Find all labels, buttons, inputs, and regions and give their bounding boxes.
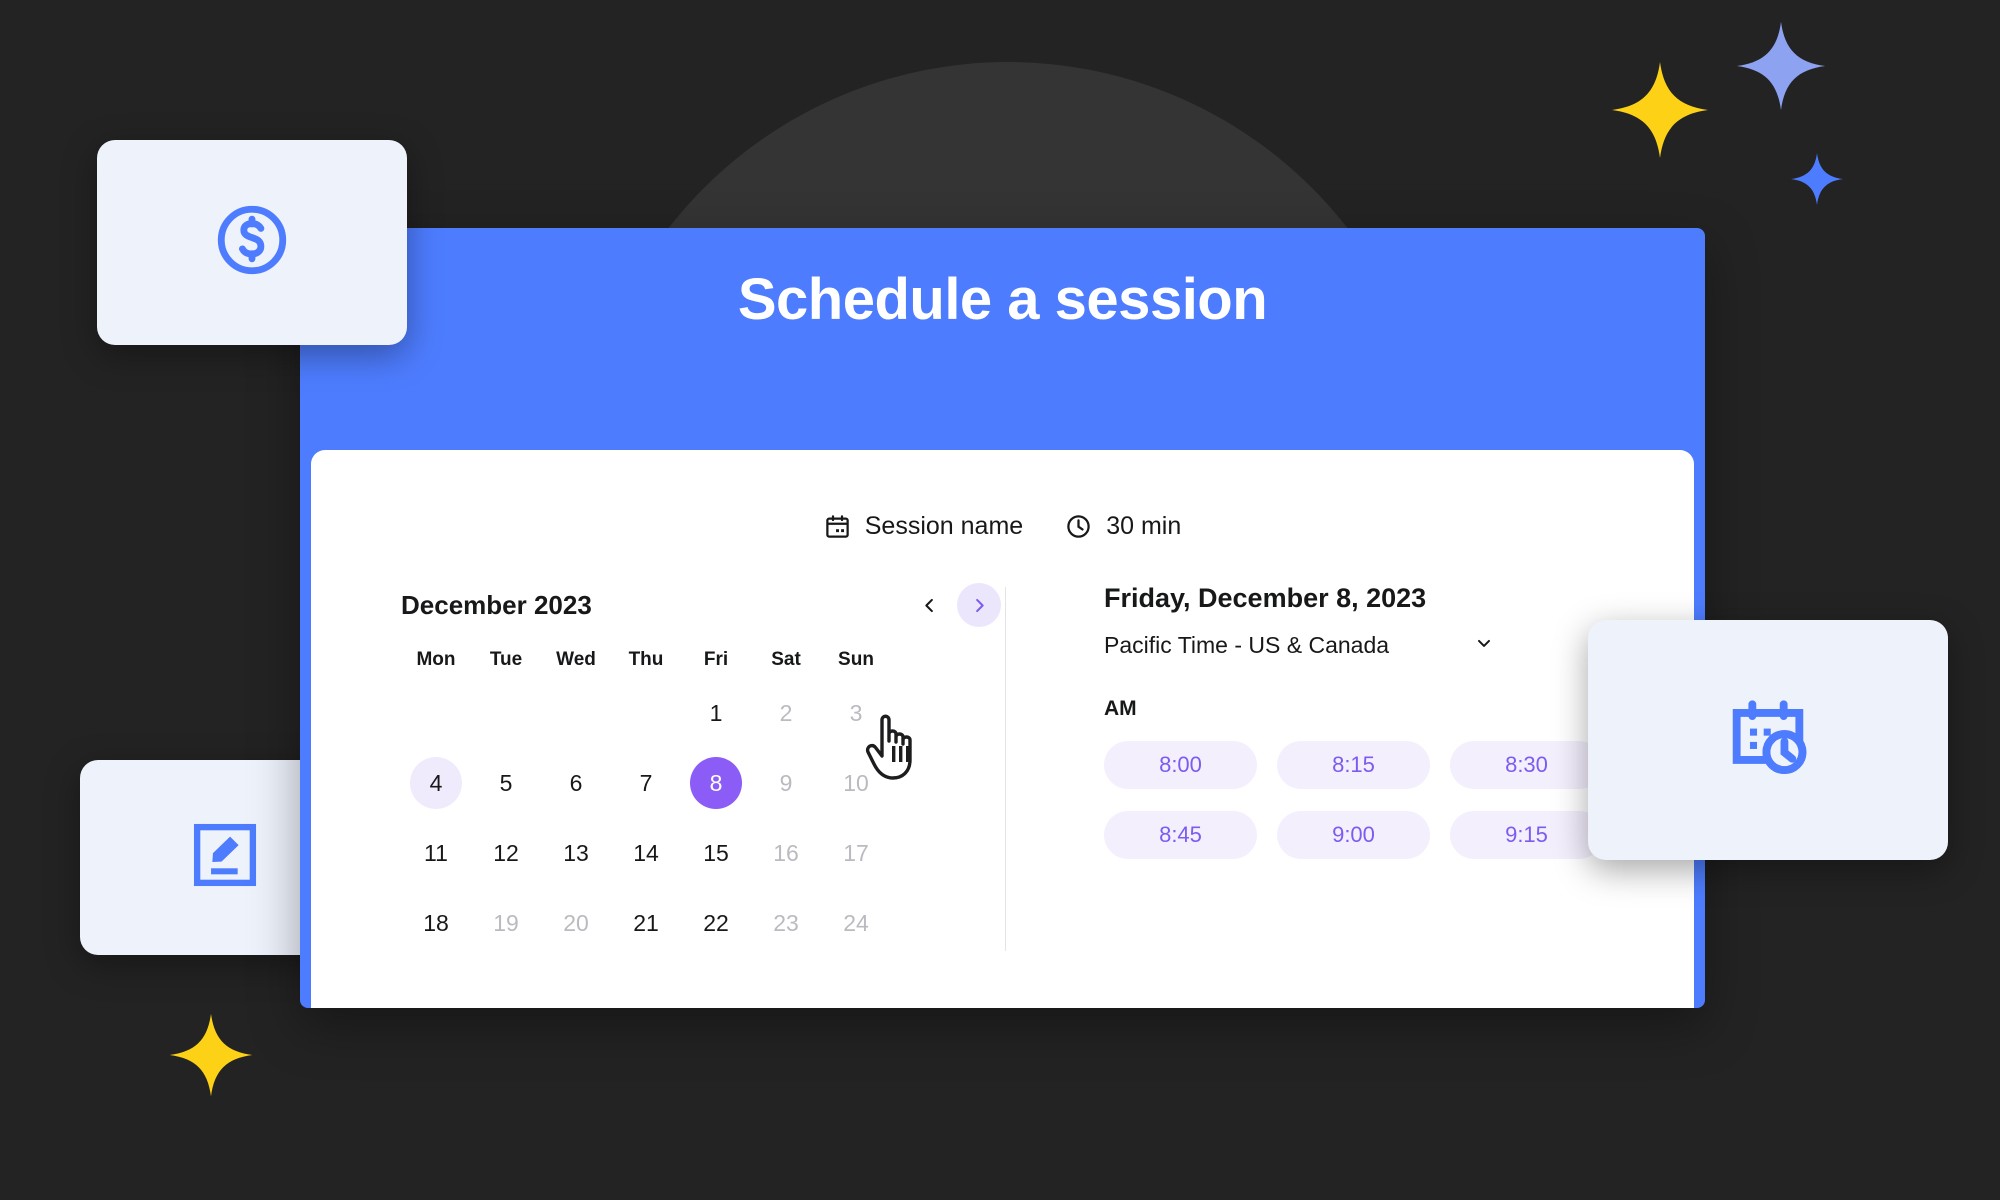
calendar-cell-empty xyxy=(611,685,681,741)
calendar-icon xyxy=(824,513,851,540)
chevron-down-icon xyxy=(1474,633,1494,658)
time-slot-8-15[interactable]: 8:15 xyxy=(1277,741,1430,789)
dow-thu: Thu xyxy=(611,649,681,671)
calendar-day-label: 2 xyxy=(760,687,812,739)
timezone-select[interactable]: Pacific Time - US & Canada xyxy=(1104,632,1494,659)
page-title: Schedule a session xyxy=(300,266,1705,333)
dow-sun: Sun xyxy=(821,649,891,671)
time-slot-8-45[interactable]: 8:45 xyxy=(1104,811,1257,859)
screenshot-stage: Schedule a session Session name xyxy=(0,0,2000,1200)
calendar-day-22[interactable]: 22 xyxy=(681,895,751,951)
calendar-day-23: 23 xyxy=(751,895,821,951)
scheduler-panel: Schedule a session Session name xyxy=(300,228,1705,1008)
calendar-day-label: 8 xyxy=(690,757,742,809)
dow-wed: Wed xyxy=(541,649,611,671)
edit-square-icon xyxy=(187,817,263,898)
calendar-header: December 2023 xyxy=(401,583,1001,627)
calendar-day-8[interactable]: 8 xyxy=(681,755,751,811)
calendar-day-20: 20 xyxy=(541,895,611,951)
calendar-day-12[interactable]: 12 xyxy=(471,825,541,881)
sparkle-yellow-bottom xyxy=(168,1012,254,1098)
calendar-day-label: 24 xyxy=(830,897,882,949)
calendar-day-label: 7 xyxy=(620,757,672,809)
calendar-day-label: 15 xyxy=(690,827,742,879)
calendar-day-17: 17 xyxy=(821,825,891,881)
calendar-day-6[interactable]: 6 xyxy=(541,755,611,811)
calendar-day-7[interactable]: 7 xyxy=(611,755,681,811)
calendar-day-label: 16 xyxy=(760,827,812,879)
calendar-clock-icon xyxy=(1721,691,1815,790)
calendar-day-label: 5 xyxy=(480,757,532,809)
calendar-day-label: 22 xyxy=(690,897,742,949)
calendar-day-2: 2 xyxy=(751,685,821,741)
chevron-right-icon xyxy=(970,596,989,615)
calendar-day-16: 16 xyxy=(751,825,821,881)
period-label: AM xyxy=(1104,697,1604,721)
pointing-hand-cursor xyxy=(862,708,926,789)
calendar-day-label: 13 xyxy=(550,827,602,879)
calendar-day-label: 21 xyxy=(620,897,672,949)
dollar-circle-icon xyxy=(211,199,293,286)
calendar-week-row: 18192021222324 xyxy=(401,895,1001,951)
calendar-day-label: 18 xyxy=(410,897,462,949)
timezone-label: Pacific Time - US & Canada xyxy=(1104,632,1389,659)
calendar-day-label: 19 xyxy=(480,897,532,949)
selected-day-title: Friday, December 8, 2023 xyxy=(1104,583,1604,614)
calendar-day-18[interactable]: 18 xyxy=(401,895,471,951)
calendar-month-label: December 2023 xyxy=(401,590,592,621)
dow-fri: Fri xyxy=(681,649,751,671)
calendar-day-label: 12 xyxy=(480,827,532,879)
calendar-nav xyxy=(907,583,1001,627)
booking-sheet: Session name 30 min December xyxy=(311,450,1694,1008)
calendar-cell-empty xyxy=(541,685,611,741)
chevron-left-icon xyxy=(920,596,939,615)
calendar-day-label: 4 xyxy=(410,757,462,809)
calendar-day-label: 1 xyxy=(690,687,742,739)
calendar-day-14[interactable]: 14 xyxy=(611,825,681,881)
calendar-cell-empty xyxy=(401,685,471,741)
session-duration-label: 30 min xyxy=(1106,512,1181,541)
calendar-day-label: 11 xyxy=(410,827,462,879)
sparkle-yellow-top xyxy=(1610,60,1710,160)
time-slot-8-30[interactable]: 8:30 xyxy=(1450,741,1603,789)
calendar-week-row: 11121314151617 xyxy=(401,825,1001,881)
time-slot-8-00[interactable]: 8:00 xyxy=(1104,741,1257,789)
booking-body: December 2023 xyxy=(311,583,1694,951)
calendar-day-label: 17 xyxy=(830,827,882,879)
calendar-day-19: 19 xyxy=(471,895,541,951)
calendar-day-label: 9 xyxy=(760,757,812,809)
decor-card-calendar-clock xyxy=(1588,620,1948,860)
dow-mon: Mon xyxy=(401,649,471,671)
calendar-day-label: 6 xyxy=(550,757,602,809)
calendar-day-1[interactable]: 1 xyxy=(681,685,751,741)
day-of-week-header: Mon Tue Wed Thu Fri Sat Sun xyxy=(401,649,1001,671)
calendar-day-4[interactable]: 4 xyxy=(401,755,471,811)
calendar-day-label: 14 xyxy=(620,827,672,879)
decor-card-dollar xyxy=(97,140,407,345)
clock-icon xyxy=(1065,513,1092,540)
calendar-day-9: 9 xyxy=(751,755,821,811)
dow-sat: Sat xyxy=(751,649,821,671)
calendar-day-24: 24 xyxy=(821,895,891,951)
calendar-day-15[interactable]: 15 xyxy=(681,825,751,881)
calendar-day-label: 23 xyxy=(760,897,812,949)
session-meta-row: Session name 30 min xyxy=(311,512,1694,541)
calendar-cell-empty xyxy=(471,685,541,741)
sparkle-blue-small xyxy=(1790,152,1844,206)
calendar-day-5[interactable]: 5 xyxy=(471,755,541,811)
time-slot-9-15[interactable]: 9:15 xyxy=(1450,811,1603,859)
prev-month-button[interactable] xyxy=(907,583,951,627)
calendar-day-11[interactable]: 11 xyxy=(401,825,471,881)
calendar-day-13[interactable]: 13 xyxy=(541,825,611,881)
time-slot-list: 8:008:158:308:459:009:15 xyxy=(1104,741,1604,859)
sparkle-periwinkle xyxy=(1735,20,1827,112)
next-month-button[interactable] xyxy=(957,583,1001,627)
calendar-day-label: 20 xyxy=(550,897,602,949)
session-name-label: Session name xyxy=(865,512,1023,541)
time-slot-9-00[interactable]: 9:00 xyxy=(1277,811,1430,859)
time-slot-panel: Friday, December 8, 2023 Pacific Time - … xyxy=(1006,583,1604,951)
dow-tue: Tue xyxy=(471,649,541,671)
session-duration-item: 30 min xyxy=(1065,512,1181,541)
session-name-item: Session name xyxy=(824,512,1023,541)
calendar-day-21[interactable]: 21 xyxy=(611,895,681,951)
